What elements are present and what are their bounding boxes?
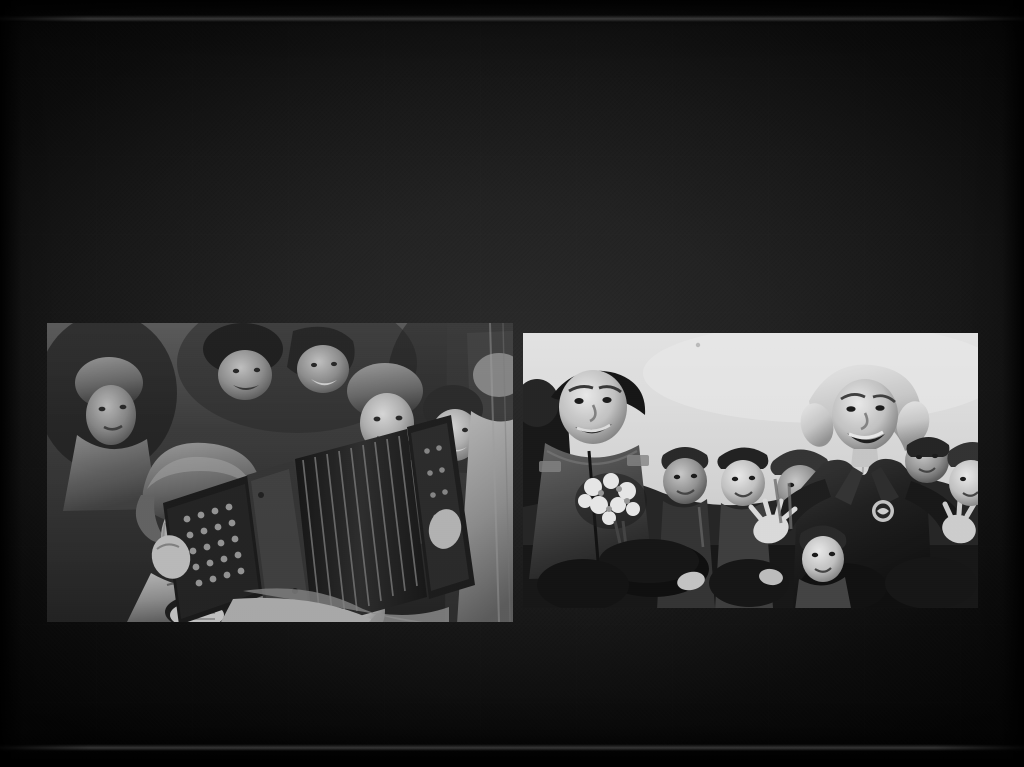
singer-performing-illustration [523, 333, 978, 608]
frame-line-top [0, 15, 1024, 22]
photo-soldiers-with-accordion [47, 323, 513, 622]
frame-line-bottom [0, 744, 1024, 751]
photo-singer-performing-for-soldiers [523, 333, 978, 608]
soldiers-with-accordion-illustration [47, 323, 513, 622]
slide-title: Музыка и война [0, 58, 1024, 119]
presentation-slide: Музыка и война [0, 0, 1024, 767]
